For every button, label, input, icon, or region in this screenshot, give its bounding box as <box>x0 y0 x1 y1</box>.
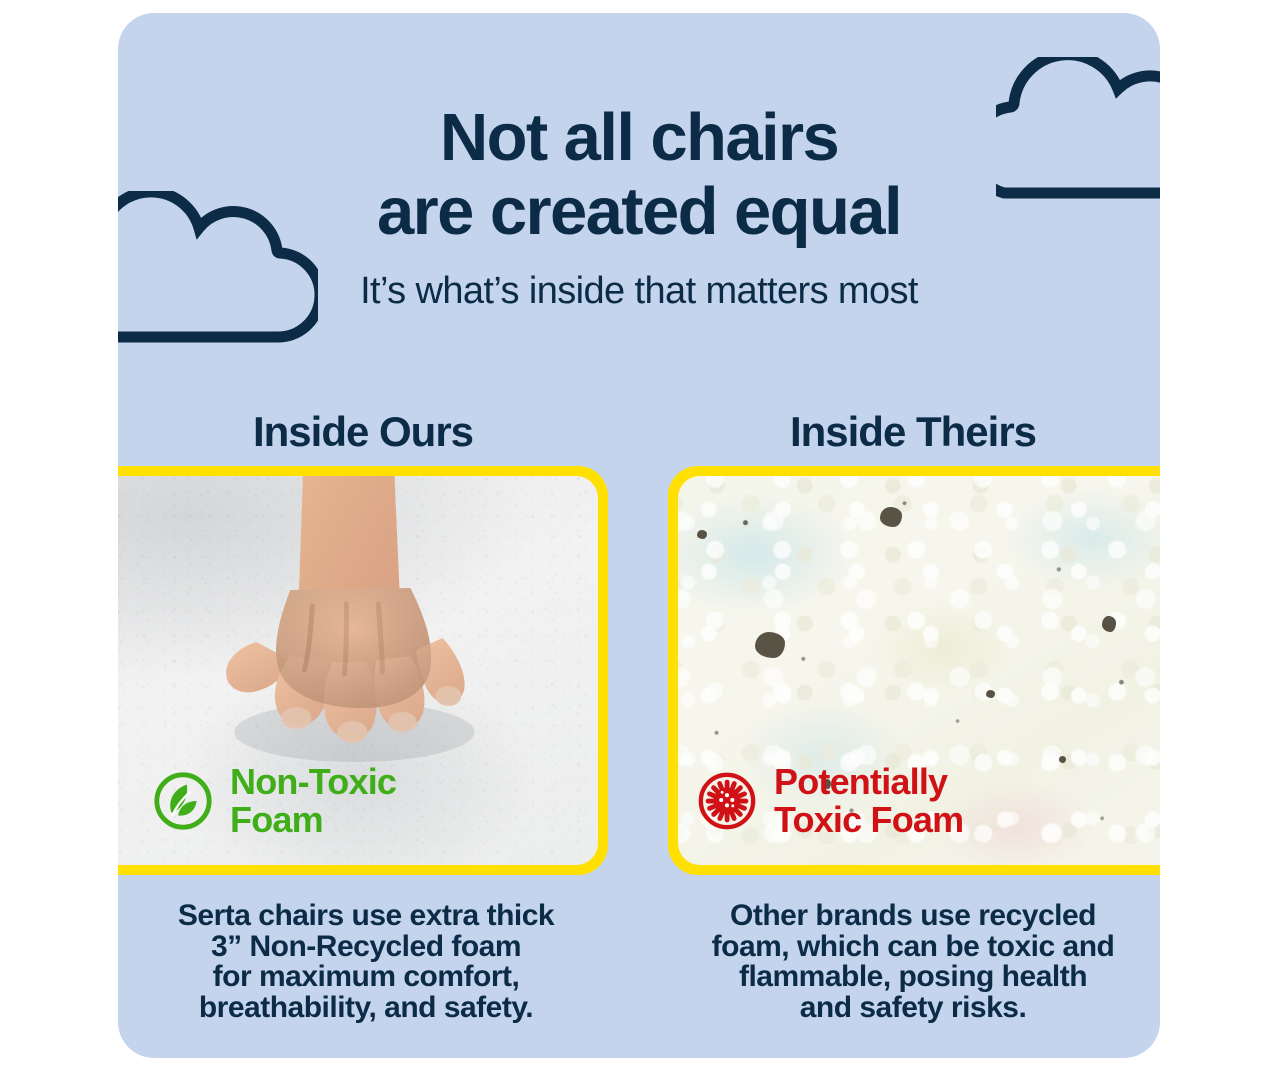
caption-line: for maximum comfort, <box>128 962 604 993</box>
column-heading-ours: Inside Ours <box>120 407 606 457</box>
status-badge-non-toxic-label: Non-Toxic Foam <box>230 763 396 839</box>
caption-line: foam, which can be toxic and <box>666 932 1160 963</box>
hand-illustration <box>186 476 516 800</box>
status-badge-toxic: Potentially Toxic Foam <box>696 763 963 839</box>
image-card-theirs-inner: Potentially Toxic Foam <box>678 476 1160 865</box>
foam-speck <box>1059 756 1066 763</box>
page-title: Not all chairs are created equal <box>118 101 1160 249</box>
caption-line: Other brands use recycled <box>666 901 1160 932</box>
badge-line-1: Non-Toxic <box>230 763 396 801</box>
caption-line: flammable, posing health <box>666 962 1160 993</box>
leaf-icon <box>152 770 214 832</box>
caption-line: breathability, and safety. <box>128 993 604 1024</box>
status-badge-non-toxic: Non-Toxic Foam <box>152 763 396 839</box>
infographic-stage: Not all chairs are created equal It’s wh… <box>0 0 1280 1073</box>
badge-line-2: Toxic Foam <box>774 801 963 839</box>
main-panel: Not all chairs are created equal It’s wh… <box>118 13 1160 1058</box>
image-card-theirs: Potentially Toxic Foam <box>668 466 1160 875</box>
headline-line-2: are created equal <box>118 175 1160 249</box>
foam-speck <box>755 632 785 658</box>
image-card-ours: Non-Toxic Foam <box>118 466 608 875</box>
caption-line: and safety risks. <box>666 993 1160 1024</box>
headline-line-1: Not all chairs <box>118 101 1160 175</box>
germ-icon <box>696 770 758 832</box>
foam-speck <box>1102 616 1116 632</box>
badge-line-2: Foam <box>230 801 396 839</box>
foam-speck <box>697 530 707 539</box>
caption-theirs: Other brands use recycled foam, which ca… <box>666 901 1160 1023</box>
status-badge-toxic-label: Potentially Toxic Foam <box>774 763 963 839</box>
column-heading-theirs: Inside Theirs <box>668 407 1158 457</box>
image-card-ours-inner: Non-Toxic Foam <box>118 476 598 865</box>
badge-line-1: Potentially <box>774 763 963 801</box>
caption-line: 3” Non-Recycled foam <box>128 932 604 963</box>
foam-speck <box>880 507 902 527</box>
page-subtitle: It’s what’s inside that matters most <box>118 269 1160 313</box>
caption-ours: Serta chairs use extra thick 3” Non-Recy… <box>128 901 604 1023</box>
caption-line: Serta chairs use extra thick <box>128 901 604 932</box>
foam-speck <box>986 690 995 698</box>
